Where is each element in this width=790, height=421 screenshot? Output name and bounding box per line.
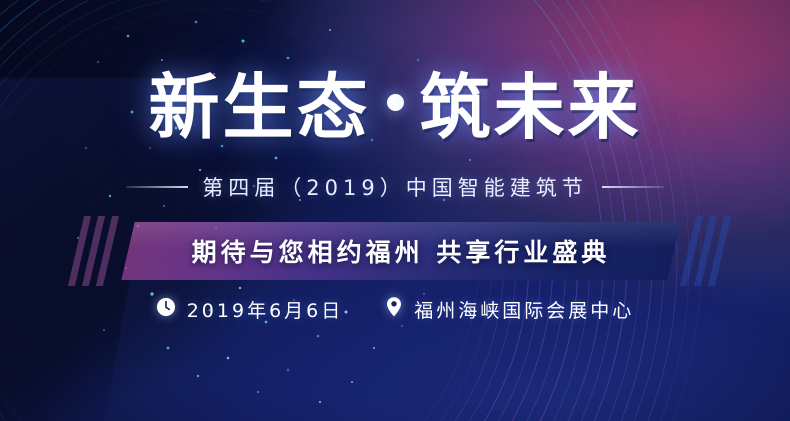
subtitle-row: 第四届（2019）中国智能建筑节: [0, 172, 790, 202]
title-part-two: 筑未来: [420, 66, 642, 149]
info-row: 2019年6月6日 福州海峡国际会展中心: [0, 296, 790, 323]
clock-icon: [156, 297, 176, 322]
event-banner: 新生态筑未来 第四届（2019）中国智能建筑节 期待与您相约福州 共享行业盛典: [0, 0, 790, 421]
tagline-text: 期待与您相约福州 共享行业盛典: [128, 222, 674, 280]
rule-right: [602, 186, 664, 188]
title-part-one: 新生态: [148, 66, 370, 149]
event-subtitle: 第四届（2019）中国智能建筑节: [202, 172, 587, 202]
event-date-text: 2019年6月6日: [187, 296, 344, 323]
event-venue-text: 福州海峡国际会展中心: [414, 296, 634, 323]
page-title: 新生态筑未来: [0, 72, 790, 143]
dot-separator-icon: [387, 94, 404, 111]
stripe-accent-right: [680, 216, 740, 286]
tagline-band: 期待与您相约福州 共享行业盛典: [128, 222, 674, 280]
banner-content: 新生态筑未来 第四届（2019）中国智能建筑节 期待与您相约福州 共享行业盛典: [0, 0, 790, 421]
stripe-accent-left: [68, 216, 128, 286]
location-pin-icon: [385, 296, 403, 323]
event-date-item: 2019年6月6日: [156, 296, 344, 323]
event-venue-item: 福州海峡国际会展中心: [385, 296, 634, 323]
rule-left: [126, 186, 188, 188]
